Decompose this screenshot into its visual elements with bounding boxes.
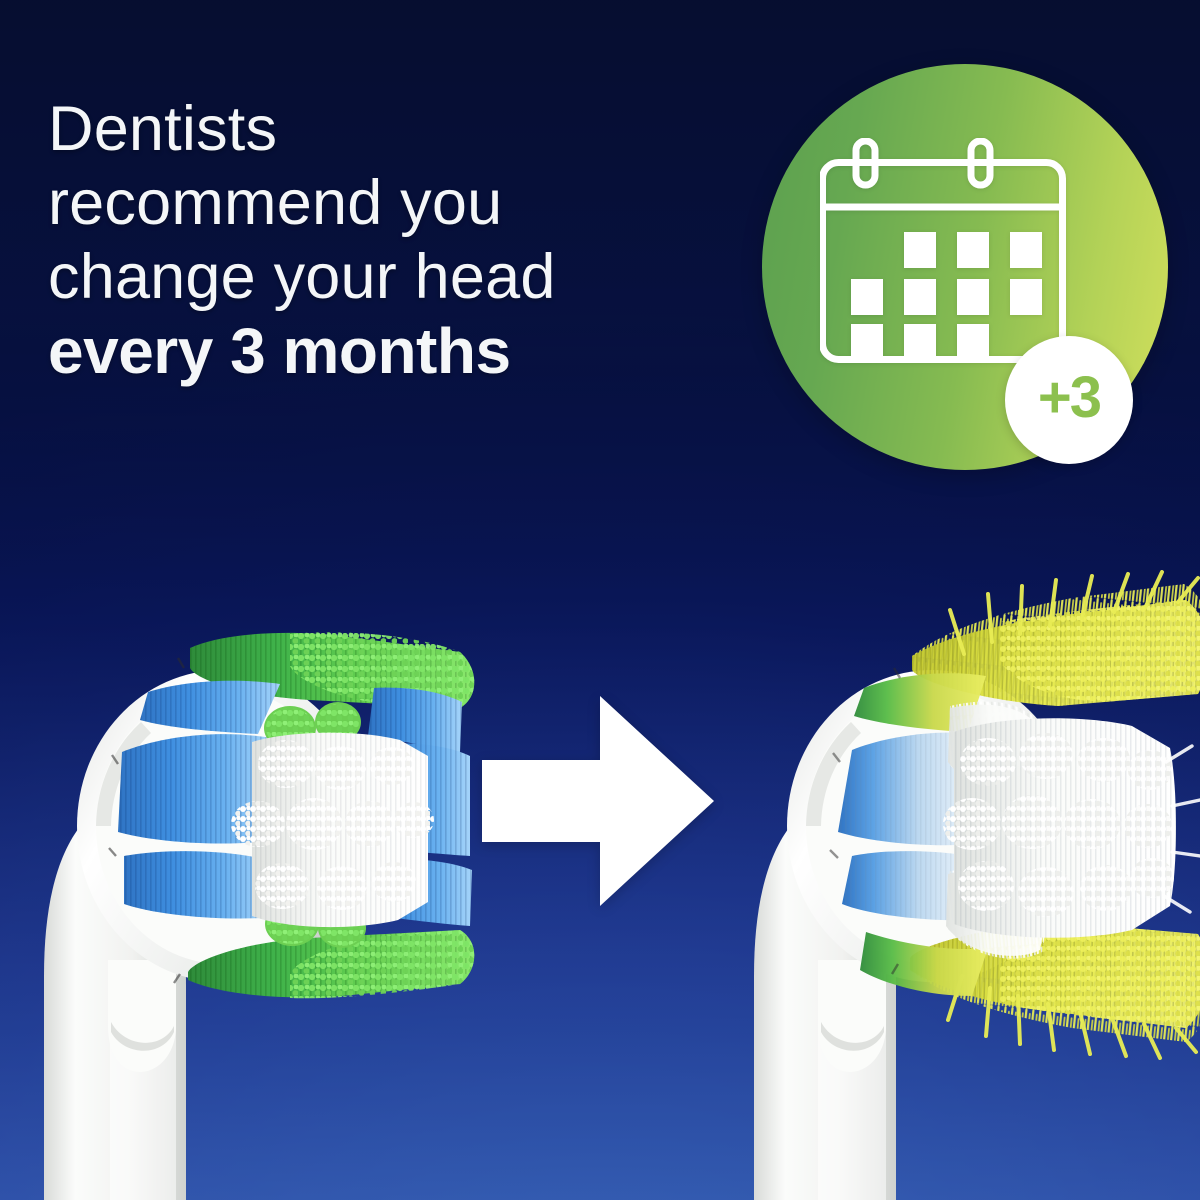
headline-block: Dentists recommend you change your head … (48, 92, 768, 388)
worn-brush-head (700, 556, 1200, 1200)
headline-line-4: every 3 months (48, 314, 768, 388)
replacement-reminder-badge: +3 (762, 64, 1168, 470)
headline-line-1: Dentists (48, 92, 768, 166)
headline-line-2: recommend you (48, 166, 768, 240)
plus-three-label: +3 (1038, 369, 1100, 427)
new-brush-head (0, 556, 550, 1200)
promo-canvas: Dentists recommend you change your head … (0, 0, 1200, 1200)
plus-three-counter: +3 (1005, 336, 1133, 464)
headline-line-3: change your head (48, 240, 768, 314)
right-arrow-icon (482, 688, 714, 914)
